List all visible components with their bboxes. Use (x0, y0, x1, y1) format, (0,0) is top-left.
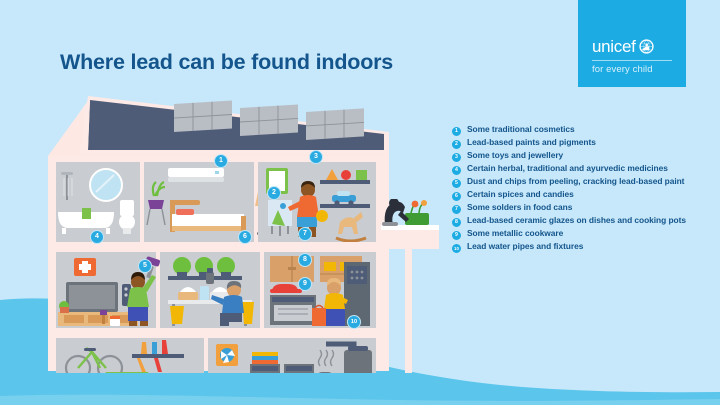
spot-badge-7[interactable]: 7 (298, 227, 312, 241)
legend-label-5: Dust and chips from peeling, cracking le… (467, 176, 684, 187)
legend-item-10[interactable]: 10 Lead water pipes and fixtures (452, 241, 692, 253)
legend-item-7[interactable]: 7 Some solders in food cans (452, 202, 692, 214)
legend-item-6[interactable]: 6 Certain spices and candies (452, 189, 692, 201)
legend-label-4: Certain herbal, traditional and ayurvedi… (467, 163, 668, 174)
legend-label-9: Some metallic cookware (467, 228, 563, 239)
spot-badge-2[interactable]: 2 (267, 186, 281, 200)
legend-badge-1: 1 (452, 127, 461, 136)
legend-badge-3: 3 (452, 153, 461, 162)
infographic-canvas: unicef for every child Where lead can be… (0, 0, 720, 405)
legend-item-1[interactable]: 1 Some traditional cosmetics (452, 124, 692, 136)
room-dining-room (160, 252, 260, 328)
legend-badge-9: 9 (452, 231, 461, 240)
legend-item-2[interactable]: 2 Lead-based paints and pigments (452, 137, 692, 149)
room-garage (56, 338, 204, 373)
logo-divider (592, 60, 672, 61)
legend-item-9[interactable]: 9 Some metallic cookware (452, 228, 692, 240)
unicef-logo-lockup: unicef (592, 38, 654, 55)
roof (80, 96, 389, 154)
spot-badge-1[interactable]: 1 (214, 154, 228, 168)
spot-badge-3[interactable]: 3 (309, 150, 323, 164)
page-title: Where lead can be found indoors (60, 50, 393, 75)
legend-badge-2: 2 (452, 140, 461, 149)
room-utility (208, 338, 380, 373)
balcony (381, 199, 443, 373)
spot-badge-4[interactable]: 4 (90, 230, 104, 244)
spot-badge-10[interactable]: 10 (347, 315, 361, 329)
unicef-tagline: for every child (592, 64, 653, 75)
spot-badge-6[interactable]: 6 (238, 230, 252, 244)
legend-badge-4: 4 (452, 166, 461, 175)
unicef-logo-block: unicef for every child (578, 0, 686, 87)
legend-label-2: Lead-based paints and pigments (467, 137, 596, 148)
legend-badge-10: 10 (452, 244, 461, 253)
legend-label-1: Some traditional cosmetics (467, 124, 575, 135)
legend-list: 1 Some traditional cosmetics 2 Lead-base… (452, 124, 692, 254)
legend-label-8: Lead-based ceramic glazes on dishes and … (467, 215, 686, 226)
room-childrens-room (258, 162, 376, 242)
unicef-wordmark: unicef (592, 38, 636, 55)
legend-item-5[interactable]: 5 Dust and chips from peeling, cracking … (452, 176, 692, 188)
legend-label-10: Lead water pipes and fixtures (467, 241, 583, 252)
legend-item-8[interactable]: 8 Lead-based ceramic glazes on dishes an… (452, 215, 692, 227)
spot-badge-8[interactable]: 8 (298, 253, 312, 267)
spot-badge-9[interactable]: 9 (298, 277, 312, 291)
person-gardening (382, 199, 409, 226)
solar-panel-array-2 (240, 104, 298, 136)
legend-badge-8: 8 (452, 218, 461, 227)
solar-panel-array-1 (174, 101, 232, 133)
legend-item-3[interactable]: 3 Some toys and jewellery (452, 150, 692, 162)
legend-item-4[interactable]: 4 Certain herbal, traditional and ayurve… (452, 163, 692, 175)
solar-panel-array-3 (306, 108, 364, 140)
unicef-globe-emblem (639, 39, 654, 54)
legend-badge-7: 7 (452, 205, 461, 214)
legend-badge-5: 5 (452, 179, 461, 188)
legend-label-3: Some toys and jewellery (467, 150, 563, 161)
legend-label-6: Certain spices and candies (467, 189, 574, 200)
legend-label-7: Some solders in food cans (467, 202, 572, 213)
legend-badge-6: 6 (452, 192, 461, 201)
spot-badge-5[interactable]: 5 (138, 259, 152, 273)
